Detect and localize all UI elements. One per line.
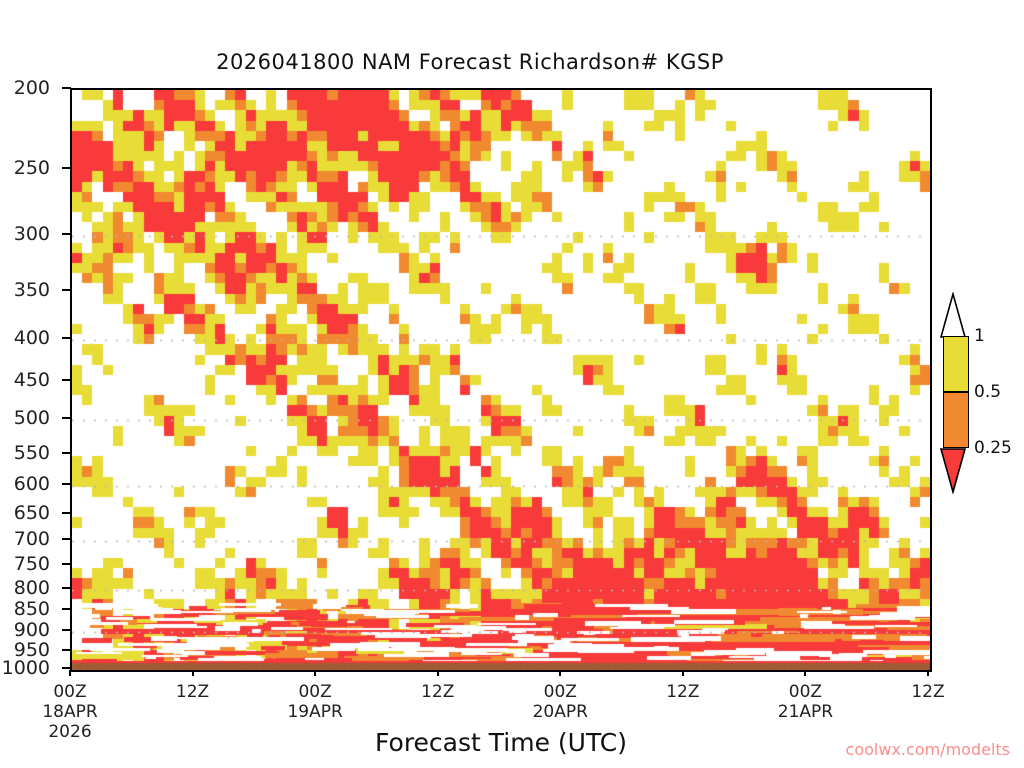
x-tick-mark — [804, 670, 806, 676]
legend-band-0.25-0.5 — [943, 392, 969, 448]
x-tick-mark — [314, 670, 316, 676]
x-tick-label: 12Z — [421, 682, 454, 702]
legend-label: 0.25 — [974, 438, 1012, 458]
x-tick-label: 00Z20APR — [533, 682, 588, 722]
legend-band-0.5-1 — [943, 336, 969, 392]
legend-label: 1 — [974, 326, 985, 346]
color-legend: 10.50.25 — [940, 292, 1024, 492]
x-tick-mark — [927, 670, 929, 676]
x-tick-mark — [682, 670, 684, 676]
y-tick-label: 250 — [14, 157, 62, 179]
y-tick-label: 750 — [14, 553, 62, 575]
x-tick-label: 00Z21APR — [778, 682, 833, 722]
x-axis-title: Forecast Time (UTC) — [70, 728, 932, 757]
x-tick-mark — [437, 670, 439, 676]
y-tick-label: 500 — [14, 407, 62, 429]
x-tick-mark — [559, 670, 561, 676]
richardson-number-heatmap — [72, 90, 930, 670]
legend-bands — [943, 336, 969, 448]
legend-label: 0.5 — [974, 382, 1001, 402]
y-tick-label: 400 — [14, 327, 62, 349]
y-tick-label: 200 — [14, 77, 62, 99]
y-tick-label: 650 — [14, 502, 62, 524]
x-tick-label: 00Z19APR — [287, 682, 342, 722]
watermark: coolwx.com/modelts — [846, 740, 1010, 759]
y-tick-label: 800 — [14, 577, 62, 599]
page-title: 2026041800 NAM Forecast Richardson# KGSP — [0, 50, 940, 74]
x-tick-mark — [69, 670, 71, 676]
legend-cap-above-max — [940, 292, 966, 336]
y-tick-label: 300 — [14, 223, 62, 245]
y-tick-label: 600 — [14, 473, 62, 495]
y-axis: 2002503003504004505005506006507007508008… — [0, 88, 62, 672]
y-tick-label: 450 — [14, 369, 62, 391]
y-tick-label: 1000 — [2, 657, 62, 679]
y-tick-label: 850 — [14, 598, 62, 620]
plot-area — [70, 88, 932, 672]
legend-cap-below-min — [940, 448, 966, 492]
x-tick-label: 12Z — [176, 682, 209, 702]
chart-root: 2026041800 NAM Forecast Richardson# KGSP… — [0, 0, 1024, 768]
y-tick-label: 550 — [14, 442, 62, 464]
y-tick-label: 350 — [14, 279, 62, 301]
y-tick-label: 700 — [14, 528, 62, 550]
x-tick-mark — [192, 670, 194, 676]
x-tick-label: 12Z — [666, 682, 699, 702]
x-tick-label: 12Z — [911, 682, 944, 702]
